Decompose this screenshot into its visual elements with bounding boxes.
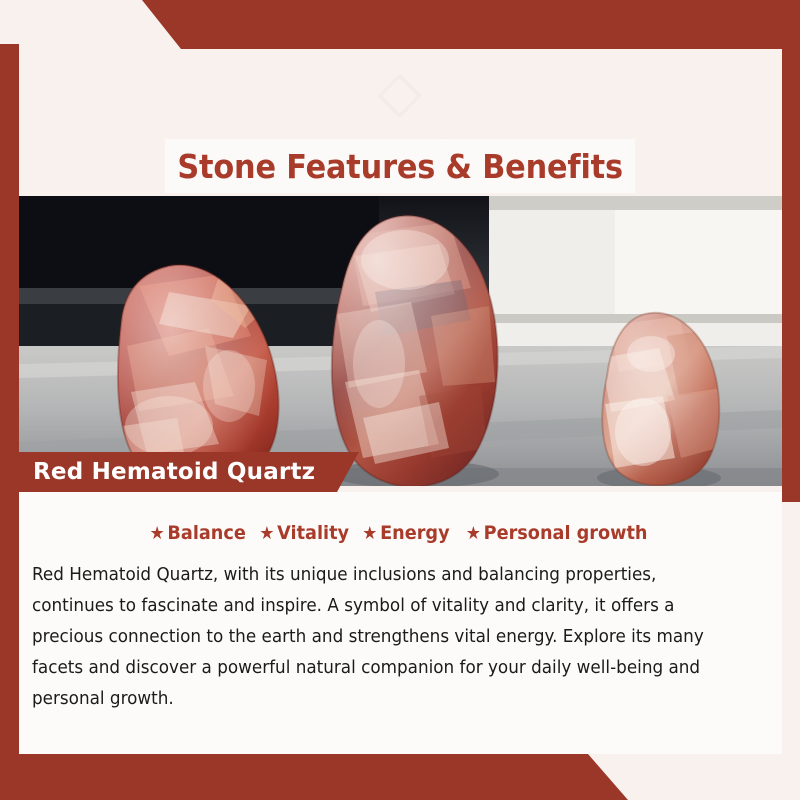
- left-border-strip: [0, 44, 19, 762]
- benefit-item-2: ★Energy: [362, 522, 449, 544]
- star-icon: ★: [362, 523, 377, 544]
- bottom-corner-accent: [0, 754, 800, 800]
- stone-features-poster: ◇ Stone Gallery Stone Features & Benefit…: [0, 0, 800, 800]
- stone-name-label: Red Hematoid Quartz: [19, 459, 315, 485]
- benefit-item-1: ★Vitality: [260, 522, 350, 544]
- benefit-label: Energy: [380, 522, 450, 544]
- benefits-list: ★Balance ★Vitality ★Energy ★Personal gro…: [19, 522, 782, 544]
- star-icon: ★: [150, 523, 165, 544]
- benefit-label: Personal growth: [484, 522, 648, 544]
- benefit-item-0: ★Balance: [150, 522, 246, 544]
- stone-name-banner: Red Hematoid Quartz: [19, 452, 359, 492]
- description-panel: ★Balance ★Vitality ★Energy ★Personal gro…: [19, 492, 782, 754]
- star-icon: ★: [260, 523, 275, 544]
- top-corner-accent: [0, 0, 800, 49]
- title-banner: Stone Features & Benefits: [165, 139, 635, 193]
- star-icon: ★: [466, 523, 481, 544]
- description-text: Red Hematoid Quartz, with its unique inc…: [32, 560, 729, 715]
- benefit-label: Balance: [168, 522, 246, 544]
- page-title: Stone Features & Benefits: [177, 147, 623, 186]
- benefit-item-3: ★Personal growth: [466, 522, 648, 544]
- stone-photo-illustration: [19, 196, 782, 486]
- right-border-strip: [782, 44, 800, 502]
- stone-photo: [19, 196, 782, 486]
- watermark-mark-icon: ◇: [286, 63, 516, 121]
- brand-watermark: ◇ Stone Gallery: [286, 63, 516, 149]
- benefit-label: Vitality: [277, 522, 349, 544]
